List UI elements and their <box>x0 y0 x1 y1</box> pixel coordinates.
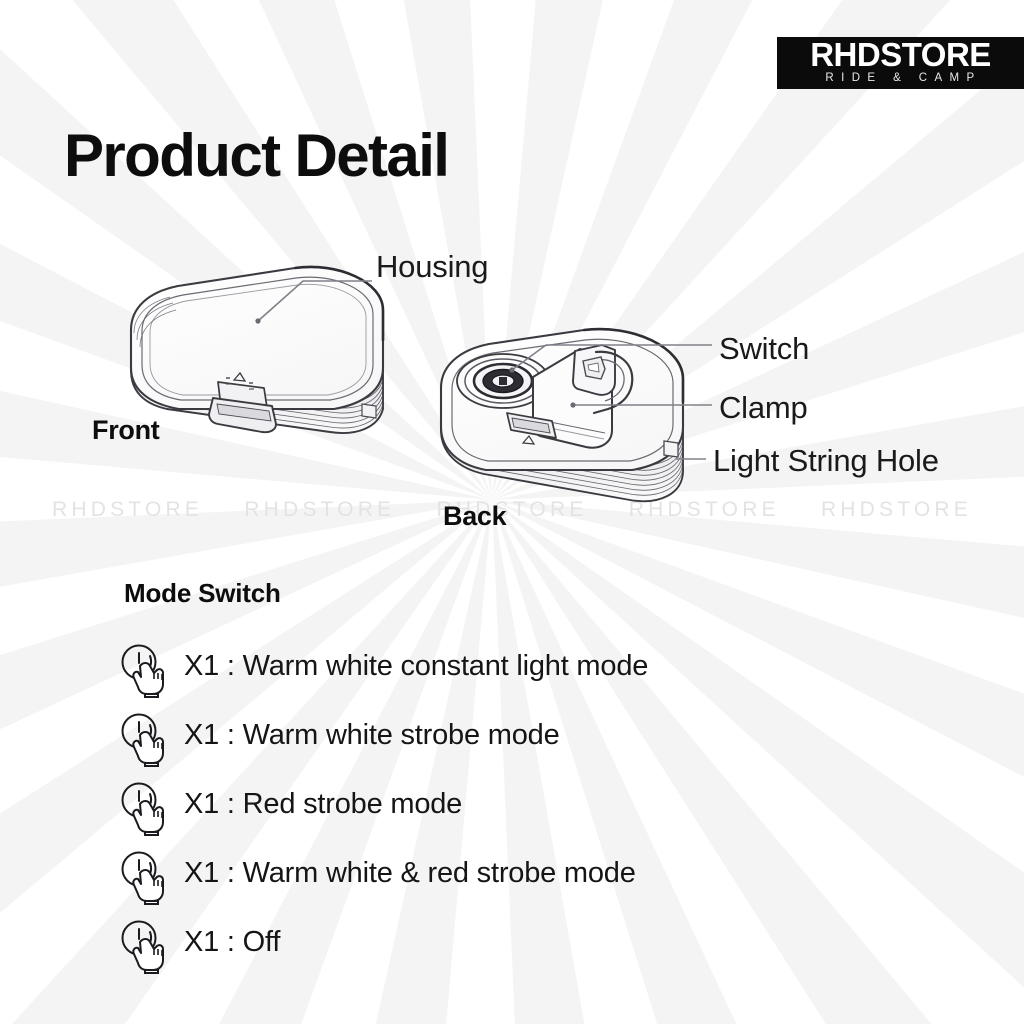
brand-logo-name: RHDSTORE <box>810 39 991 71</box>
mode-switch-heading: Mode Switch <box>124 578 281 609</box>
mode-row: X1 : Off <box>118 910 958 979</box>
press-power-button-icon <box>118 640 170 698</box>
callout-label-clamp: Clamp <box>719 390 808 426</box>
mode-row: X1 : Warm white constant light mode <box>118 634 958 703</box>
brand-logo: RHDSTORE RIDE & CAMP <box>777 37 1024 89</box>
mode-row-text: X1 : Warm white & red strobe mode <box>184 859 636 892</box>
callout-label-housing: Housing <box>376 249 488 285</box>
press-power-button-icon <box>118 778 170 836</box>
view-label-back: Back <box>443 501 506 532</box>
callout-label-light-string-hole: Light String Hole <box>713 443 939 479</box>
press-power-button-icon <box>118 847 170 905</box>
view-label-front: Front <box>92 415 159 446</box>
mode-row: X1 : Red strobe mode <box>118 772 958 841</box>
product-detail-infographic: RHDSTORE RHDSTORE RHDSTORE RHDSTORE RHDS… <box>0 0 1024 1024</box>
mode-row: X1 : Warm white & red strobe mode <box>118 841 958 910</box>
press-power-button-icon <box>118 709 170 767</box>
mode-row-text: X1 : Off <box>184 928 280 961</box>
press-power-button-icon <box>118 916 170 974</box>
callout-label-switch: Switch <box>719 331 809 367</box>
mode-row-text: X1 : Warm white strobe mode <box>184 721 560 754</box>
mode-switch-list: X1 : Warm white constant light mode X1 :… <box>118 634 958 979</box>
mode-row-text: X1 : Red strobe mode <box>184 790 462 823</box>
mode-row: X1 : Warm white strobe mode <box>118 703 958 772</box>
brand-logo-tagline: RIDE & CAMP <box>819 71 981 87</box>
mode-row-text: X1 : Warm white constant light mode <box>184 652 648 685</box>
page-title: Product Detail <box>64 121 448 190</box>
